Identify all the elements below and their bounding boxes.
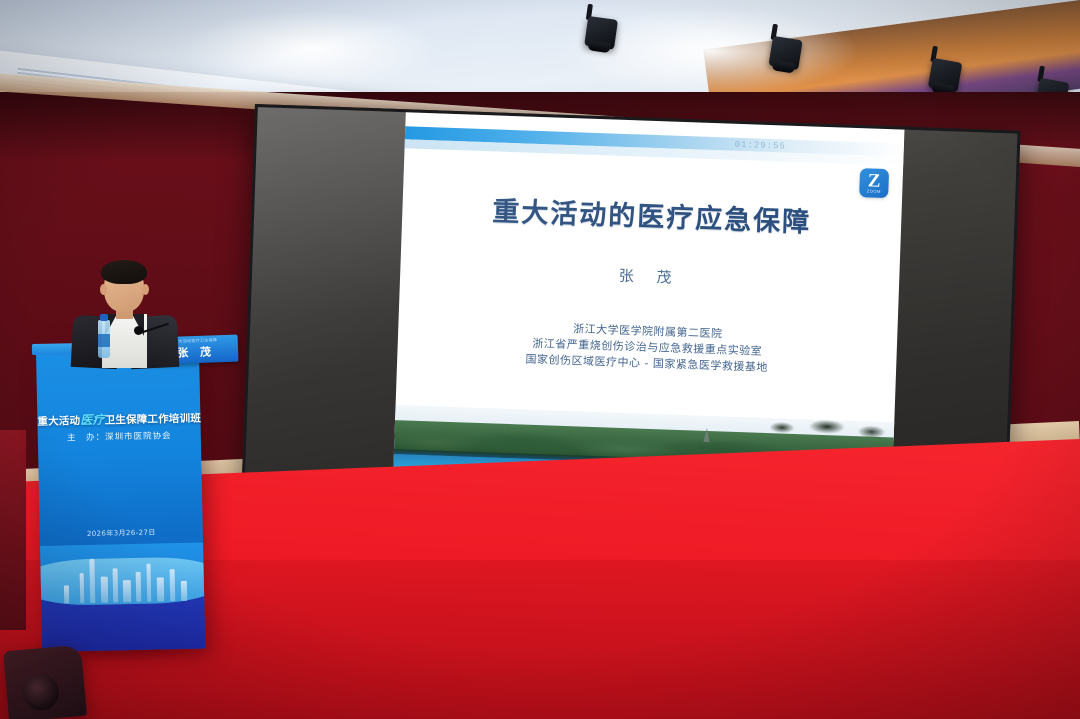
- skyline-building: [64, 585, 69, 603]
- presentation-timer: 01:29:55: [734, 140, 786, 152]
- slide-title: 重大活动的医疗应急保障: [402, 186, 902, 242]
- slide-affiliations: 浙江大学医学院附属第二医院 浙江省严重烧创伤诊治与应急救援重点实验室 国家创伤区…: [397, 315, 897, 380]
- skyline-building: [80, 573, 85, 603]
- zoom-letter: Z: [868, 173, 881, 188]
- podium-date: 2026年3月26-27日: [40, 527, 203, 540]
- hair: [101, 260, 147, 284]
- banner-suffix: 卫生保障工作培训班: [105, 413, 202, 427]
- microphone-head: [134, 326, 143, 335]
- speaker-podium: 重大活动医疗卫生保障工作培训班 主 办：深圳市医院协会 2026年3月26-27…: [36, 349, 205, 652]
- ear-right: [142, 284, 149, 295]
- podium-skyline-graphic: [40, 543, 205, 652]
- podium-organizer: 主 办：深圳市医院协会: [38, 429, 201, 444]
- skyline-building: [181, 581, 187, 601]
- banner-highlight: 医疗: [80, 413, 105, 428]
- speaker-cone: [21, 673, 60, 712]
- zoom-label: ZOOM: [867, 188, 881, 193]
- banner-prefix: 重大活动: [37, 415, 80, 428]
- conference-stage-photo: 01:29:55 Z ZOOM 重大活动的医疗应急保障 张 茂 浙江大学医学院附…: [0, 0, 1080, 719]
- skyline-building: [135, 572, 141, 602]
- podium-banner-title: 重大活动医疗卫生保障工作培训班: [37, 409, 200, 429]
- slide-presenter-name: 张 茂: [400, 257, 899, 295]
- skyline-building: [156, 577, 164, 601]
- presentation-slide[interactable]: 01:29:55 Z ZOOM 重大活动的医疗应急保障 张 茂 浙江大学医学院附…: [393, 112, 905, 504]
- skyline-building: [169, 569, 175, 601]
- ear-left: [100, 284, 107, 295]
- photo-pagoda: [704, 428, 710, 442]
- stage-monitor-speaker: [3, 645, 87, 719]
- skyline-building: [112, 568, 118, 602]
- skyline-building: [146, 564, 151, 602]
- zoom-app-icon[interactable]: Z ZOOM: [859, 168, 889, 198]
- water-bottle-cap: [100, 314, 108, 321]
- water-bottle-label: [98, 334, 110, 347]
- led-panel-left: [245, 107, 406, 487]
- left-wall-post: [0, 430, 26, 630]
- skyline-building: [89, 559, 95, 603]
- skyline-building: [101, 577, 109, 603]
- skyline-building: [122, 580, 130, 602]
- speaker-person: [74, 258, 194, 368]
